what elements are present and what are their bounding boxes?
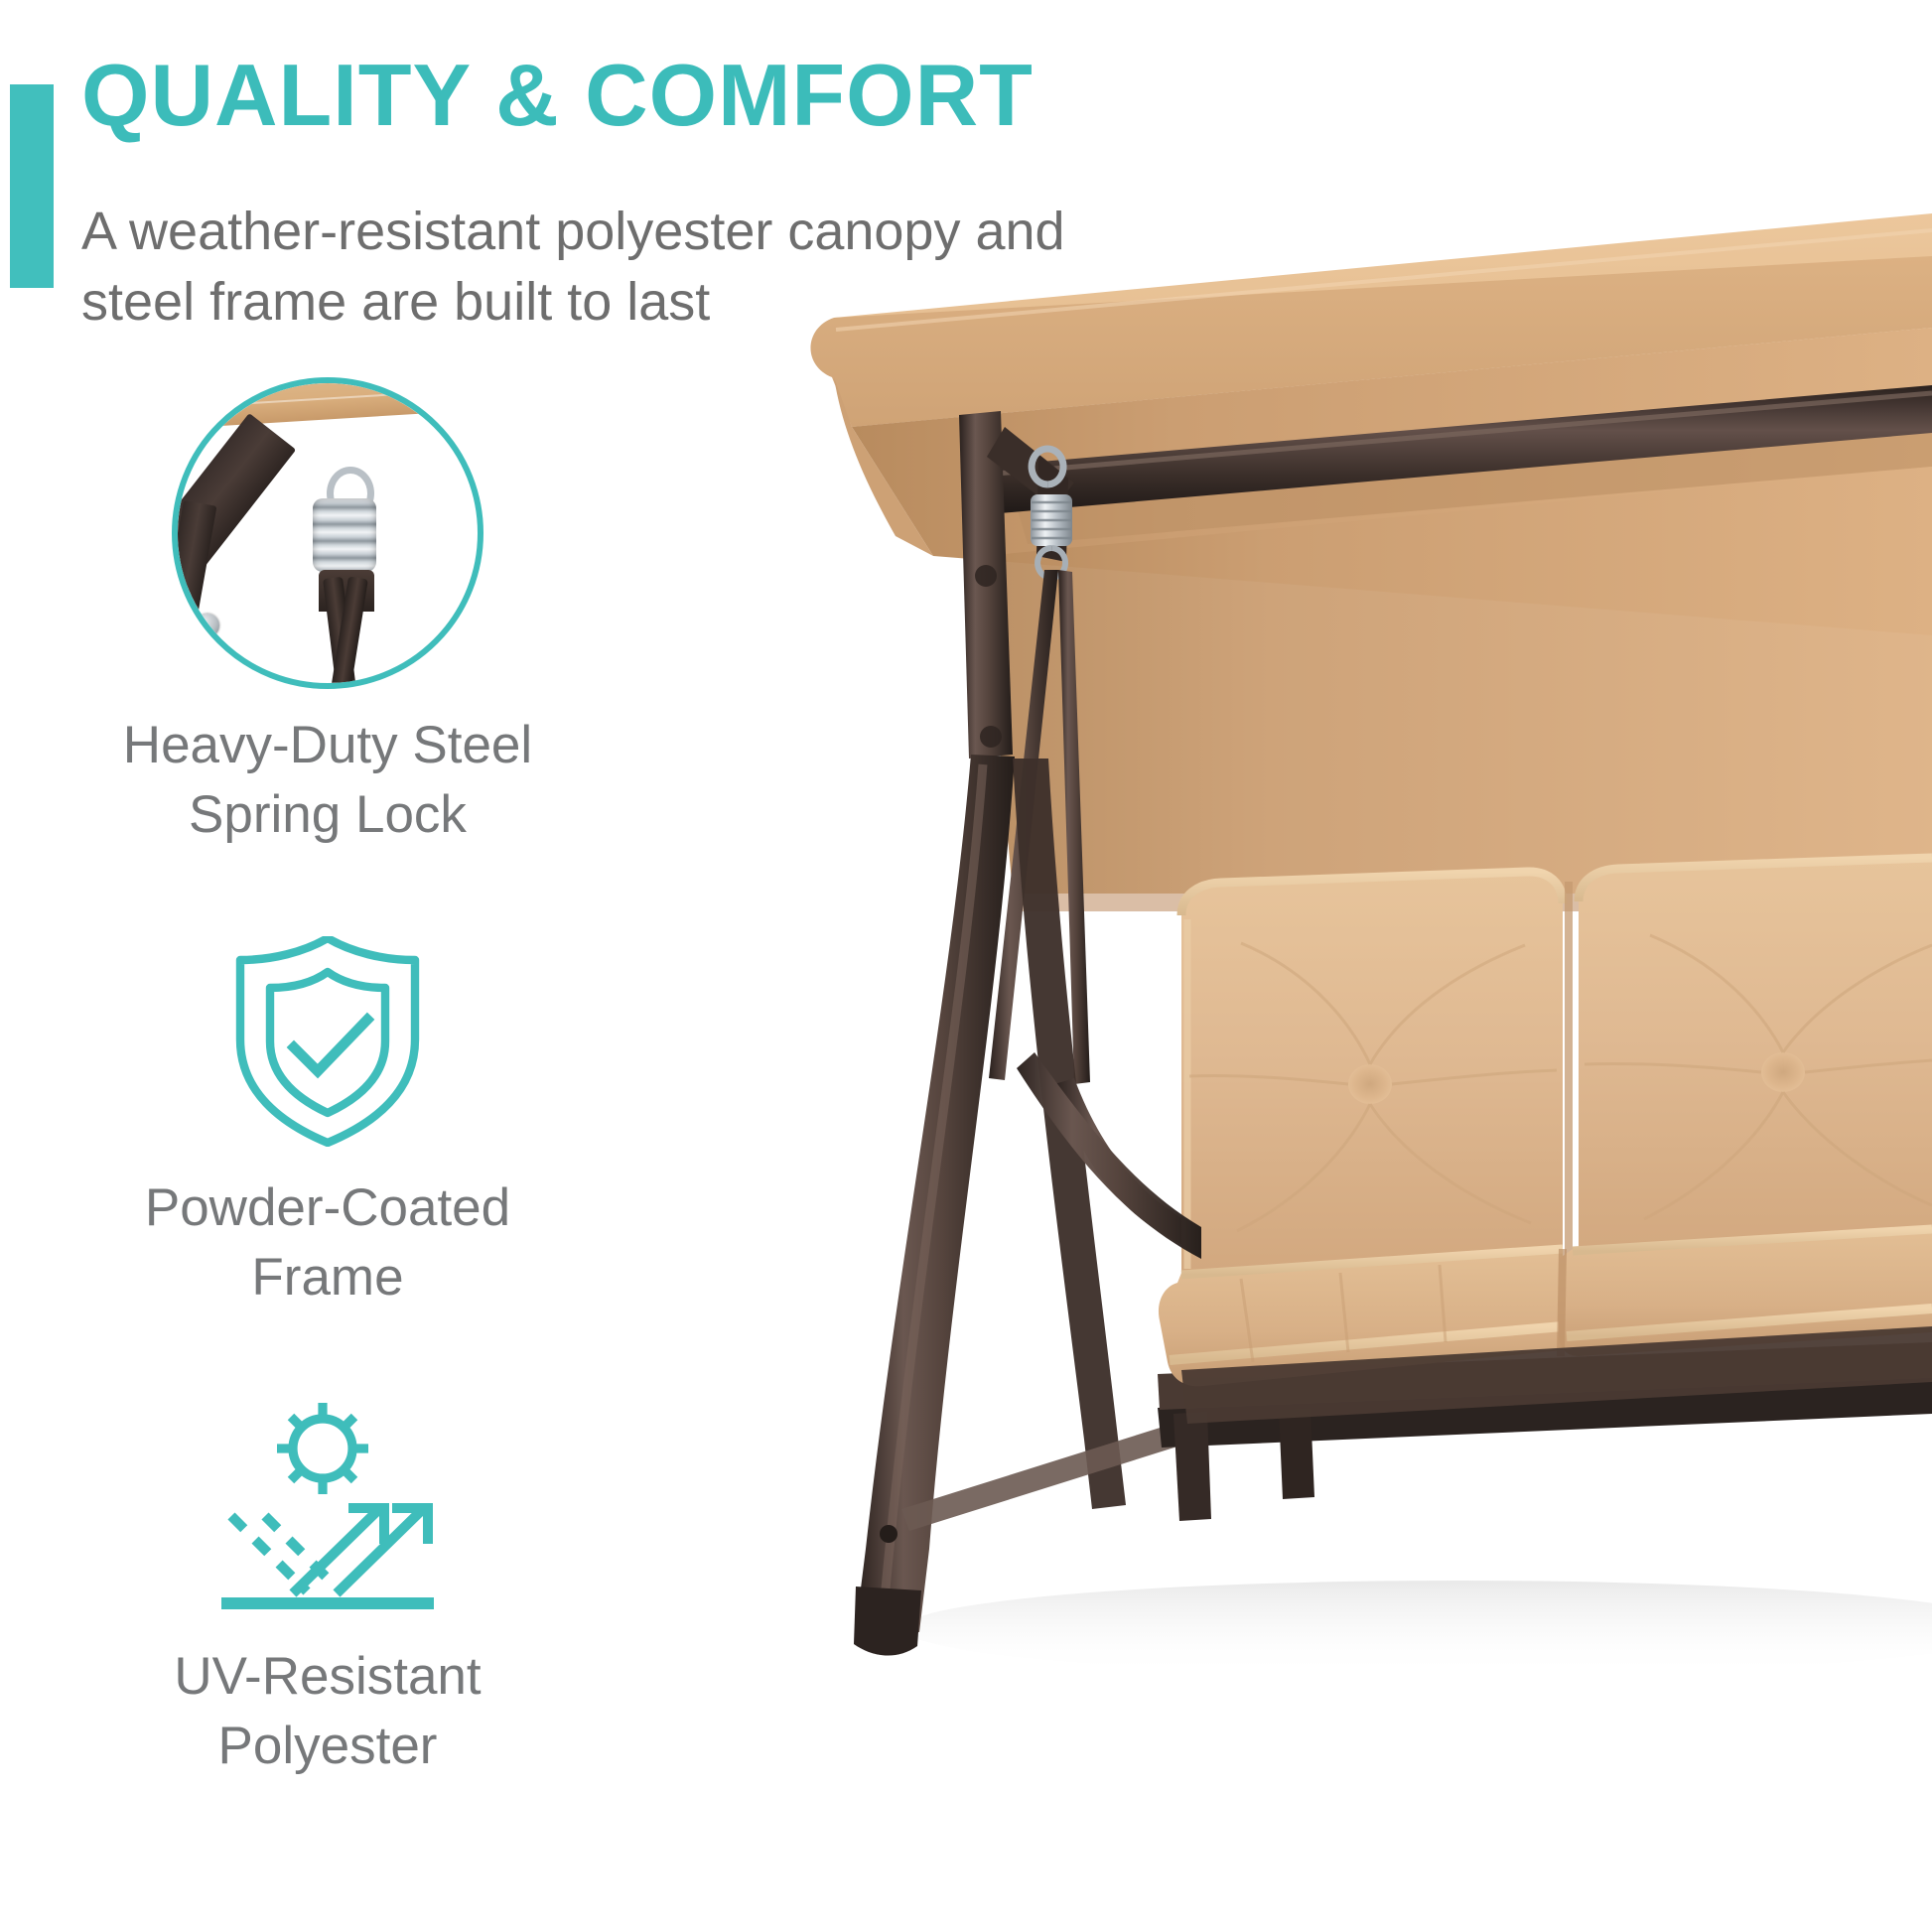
floor-shadow [903, 1581, 1932, 1676]
uv-resistant-icon [213, 1393, 442, 1615]
feature-caption-uv-resistant: UV-Resistant Polyester [0, 1642, 655, 1782]
leg-foot-cap [854, 1587, 921, 1656]
back-cushion-right [1579, 858, 1932, 1259]
infographic-canvas: QUALITY & COMFORT A weather-resistant po… [0, 0, 1932, 1932]
back-cushion-right-tuft [1761, 1052, 1805, 1092]
seat-cushion-gap [1561, 1249, 1563, 1356]
back-cushion-left-tuft [1348, 1064, 1392, 1104]
post-bolt-mid [980, 726, 1002, 748]
screw-icon [196, 614, 219, 637]
feature-item-spring-lock: Heavy-Duty Steel Spring Lock [0, 377, 655, 851]
shield-check-icon [228, 936, 427, 1147]
feature-item-powder-coated-frame: Powder-Coated Frame [0, 936, 655, 1313]
vertical-post [178, 500, 216, 683]
armrest-pipe [1017, 1052, 1201, 1259]
feature-item-uv-resistant: UV-Resistant Polyester [0, 1393, 655, 1782]
feature-list: Heavy-Duty Steel Spring Lock Powder-Coat… [0, 377, 655, 1782]
seat-rail-leg-2 [1279, 1408, 1314, 1499]
product-photo-porch-swing [685, 0, 1932, 1932]
feature-caption-powder-coated-frame: Powder-Coated Frame [0, 1173, 655, 1313]
feature-caption-spring-lock: Heavy-Duty Steel Spring Lock [0, 711, 655, 851]
leg-foot-bolt [880, 1525, 897, 1543]
uv-icon-wrap [0, 1393, 655, 1620]
post-bolt-upper [975, 565, 997, 587]
steel-spring [313, 498, 376, 572]
spring-lock-photo-inner [178, 383, 478, 683]
seat-rail-leg [1173, 1412, 1211, 1521]
title-accent-bar [10, 84, 54, 288]
shield-icon-wrap [0, 936, 655, 1152]
porch-swing-illustration [685, 0, 1932, 1932]
canopy-edge [178, 383, 478, 431]
spring-lock-photo [172, 377, 483, 689]
